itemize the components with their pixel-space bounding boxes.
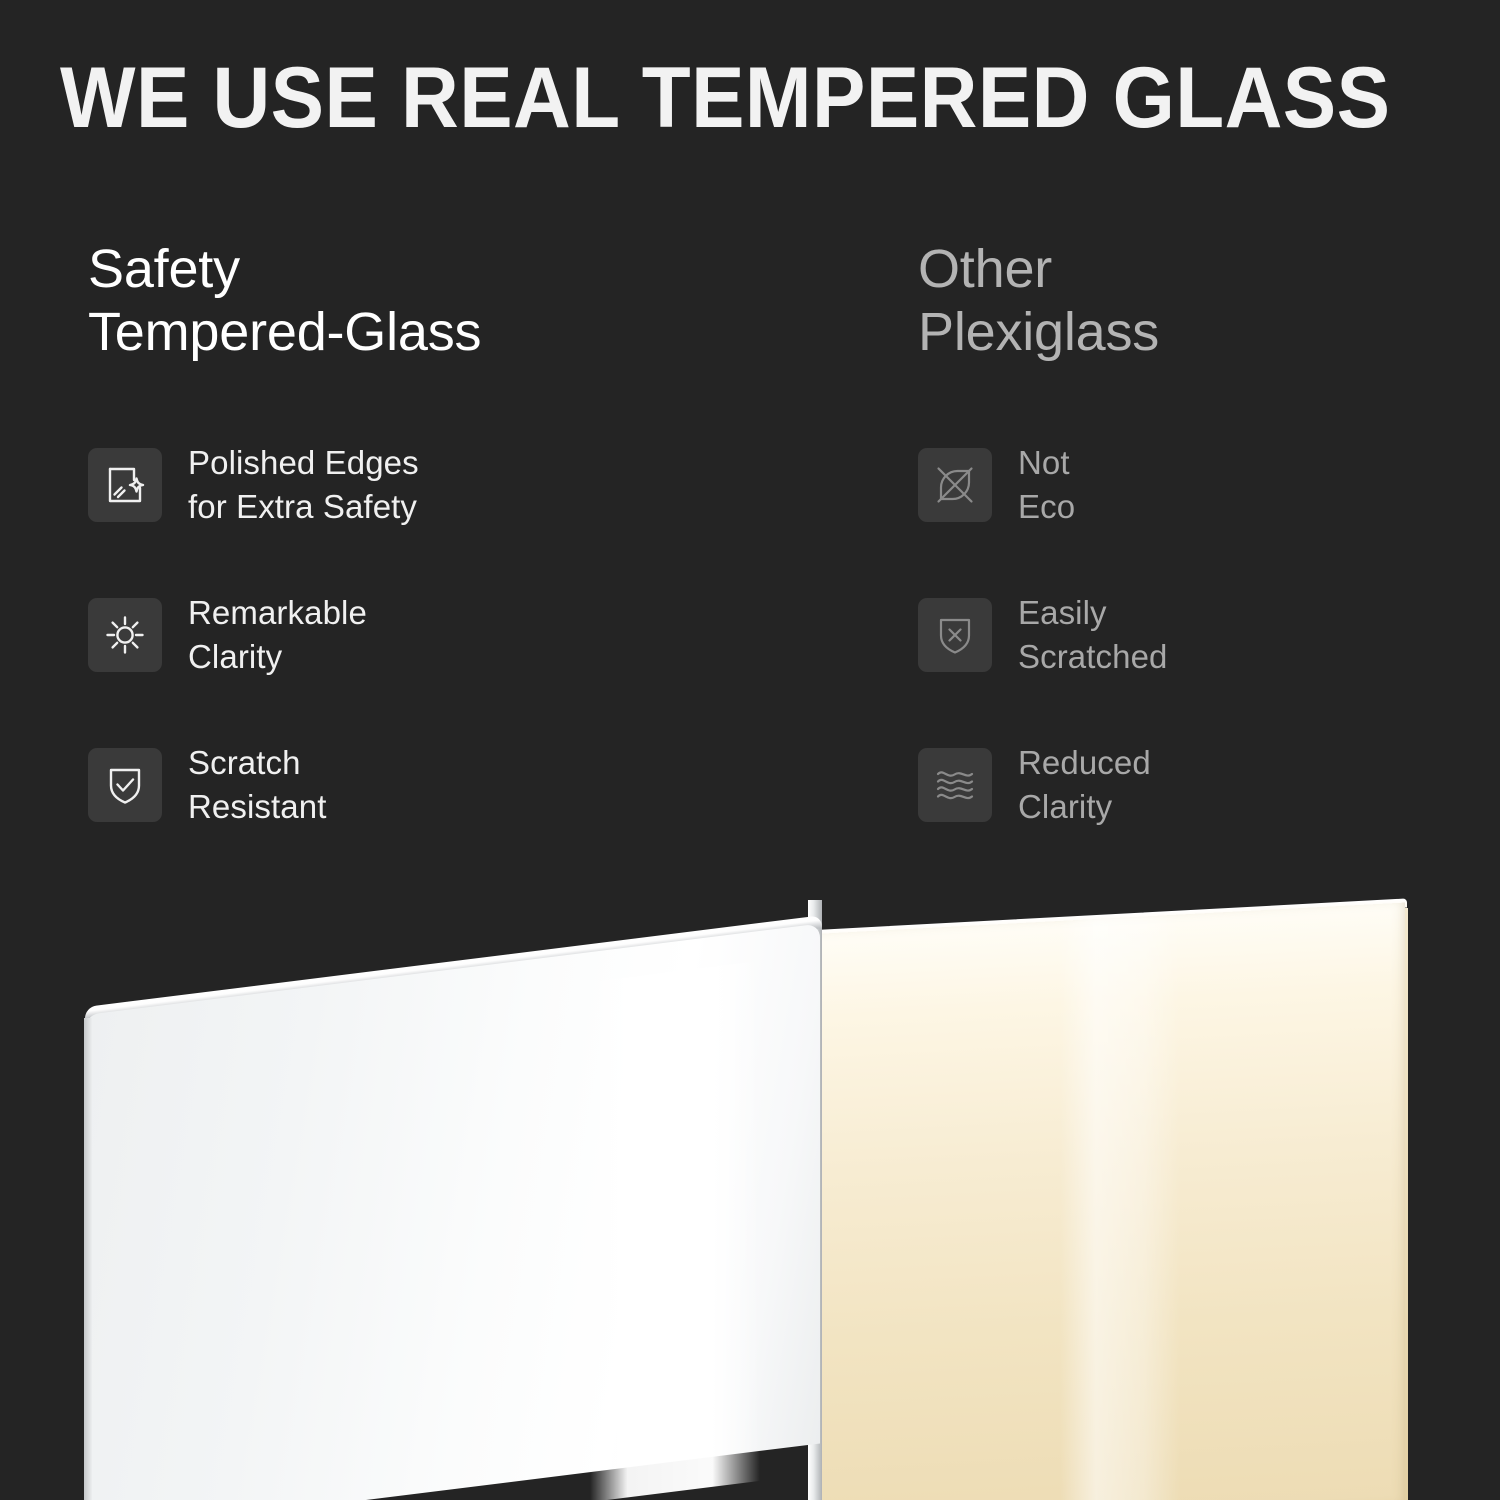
comparison-infographic: WE USE REAL TEMPERED GLASS Safety Temper… (0, 0, 1500, 1500)
product-panel-imagery (0, 860, 1500, 1500)
feature-not-eco: Not Eco (918, 446, 1500, 524)
sun-brightness-icon (88, 598, 162, 672)
feature-label-scratch-resistant: Scratch Resistant (188, 741, 326, 829)
feature-label-remarkable-clarity: Remarkable Clarity (188, 591, 367, 679)
column-other-plexiglass: Other Plexiglass Not Eco (918, 238, 1500, 824)
shield-check-icon (88, 748, 162, 822)
page-title: WE USE REAL TEMPERED GLASS (60, 38, 1362, 158)
feature-reduced-clarity: Reduced Clarity (918, 746, 1500, 824)
wavy-lines-blur-icon (918, 748, 992, 822)
shield-x-icon (918, 598, 992, 672)
column-title-other-plexiglass: Other Plexiglass (918, 238, 1500, 364)
column-safety-tempered-glass: Safety Tempered-Glass Polished Edges for… (88, 238, 688, 824)
plexiglass-panel (815, 903, 1405, 1500)
column-title-safety-tempered-glass: Safety Tempered-Glass (88, 238, 688, 364)
comparison-columns: Safety Tempered-Glass Polished Edges for… (0, 238, 1500, 868)
tempered-glass-panel (85, 923, 820, 1500)
feature-polished-edges: Polished Edges for Extra Safety (88, 446, 688, 524)
feature-label-polished-edges: Polished Edges for Extra Safety (188, 441, 419, 529)
leaf-crossed-out-icon (918, 448, 992, 522)
tempered-glass-panel-left-edge (84, 1018, 92, 1500)
feature-remarkable-clarity: Remarkable Clarity (88, 596, 688, 674)
feature-label-not-eco: Not Eco (1018, 441, 1075, 529)
feature-easily-scratched: Easily Scratched (918, 596, 1500, 674)
polished-edge-sparkle-icon (88, 448, 162, 522)
feature-label-easily-scratched: Easily Scratched (1018, 591, 1167, 679)
feature-scratch-resistant: Scratch Resistant (88, 746, 688, 824)
feature-label-reduced-clarity: Reduced Clarity (1018, 741, 1151, 829)
